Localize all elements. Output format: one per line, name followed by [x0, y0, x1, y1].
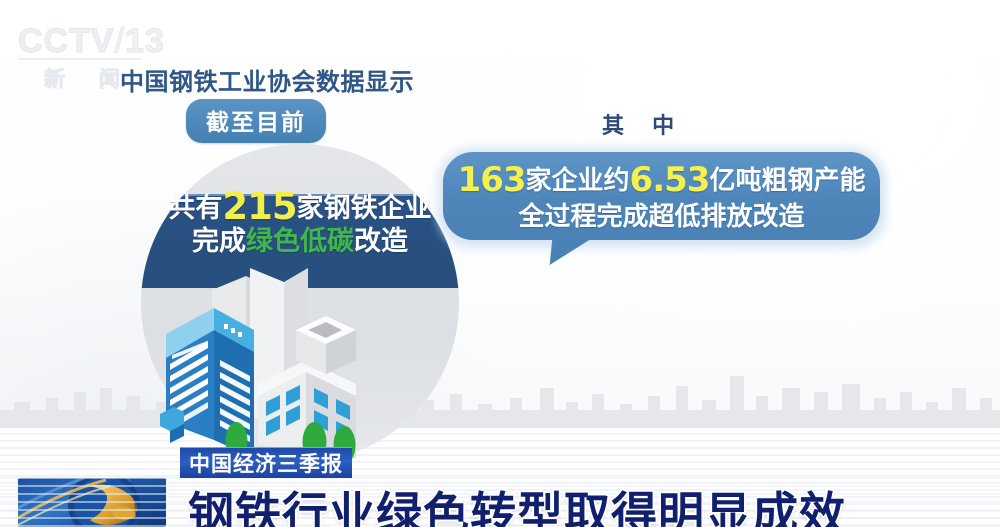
news-globe-graphic	[18, 478, 166, 527]
isometric-buildings-illustration	[150, 268, 420, 468]
broadcast-graphic: CCTV/13 新 闻 中国钢铁工业协会数据显示 截至目前 其 中 共有215家…	[0, 0, 1000, 527]
logo-cctv-text: CCTV	[18, 22, 115, 60]
headline: 钢铁行业绿色转型取得明显成效	[188, 478, 846, 527]
topic-tag: 中国经济三季报	[180, 447, 352, 478]
right-stat-bubble	[443, 152, 880, 240]
bubble-tail	[550, 238, 593, 265]
logo-slash: /	[115, 22, 125, 60]
source-line: 中国钢铁工业协会数据显示	[120, 62, 414, 97]
among-label: 其 中	[602, 108, 685, 140]
as-of-badge: 截至目前	[186, 99, 326, 143]
logo-channel-number: 13	[125, 22, 165, 60]
